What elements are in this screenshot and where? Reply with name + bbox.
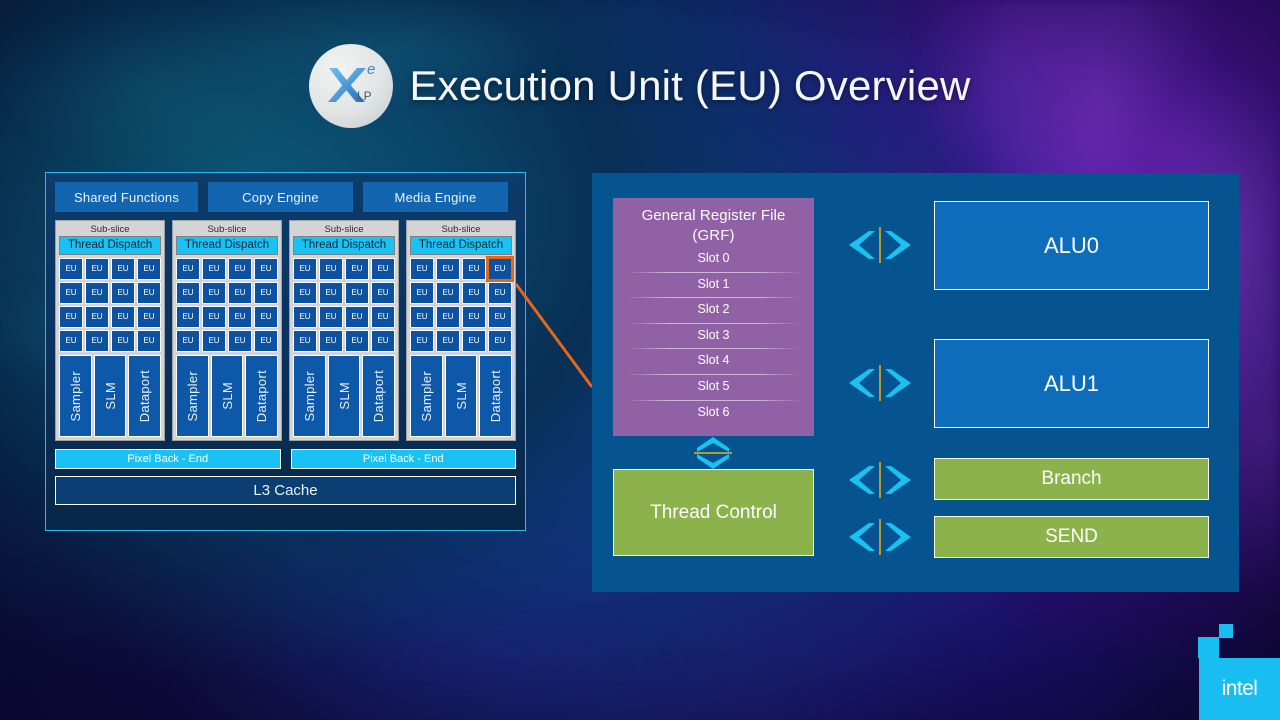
eu-cell[interactable]: EU xyxy=(462,306,486,328)
slm-block[interactable]: SLM xyxy=(328,355,361,437)
subslice-functions-2: Sampler SLM Dataport xyxy=(293,355,395,437)
eu-cell[interactable]: EU xyxy=(137,258,161,280)
thread-control-block[interactable]: Thread Control xyxy=(613,469,814,556)
eu-cell[interactable]: EU xyxy=(345,330,369,352)
eu-cell[interactable]: EU xyxy=(228,282,252,304)
eu-cell[interactable]: EU xyxy=(176,330,200,352)
eu-cell[interactable]: EU xyxy=(436,282,460,304)
eu-cell[interactable]: EU xyxy=(85,258,109,280)
eu-cell[interactable]: EU xyxy=(59,282,83,304)
send-label: SEND xyxy=(1045,526,1098,548)
thread-dispatch-1[interactable]: Thread Dispatch xyxy=(176,236,278,255)
subslice-0[interactable]: Sub-slice Thread Dispatch EU EU EU EU EU… xyxy=(55,220,165,441)
eu-cell[interactable]: EU xyxy=(254,258,278,280)
sampler-label: Sampler xyxy=(68,371,83,422)
dataport-block[interactable]: Dataport xyxy=(362,355,395,437)
eu-cell[interactable]: EU xyxy=(462,330,486,352)
subslice-row: Sub-slice Thread Dispatch EU EU EU EU EU… xyxy=(46,212,525,441)
eu-cell[interactable]: EU xyxy=(254,330,278,352)
eu-cell[interactable]: EU xyxy=(436,330,460,352)
eu-cell[interactable]: EU xyxy=(254,282,278,304)
grf-slot-0[interactable]: Slot 0 xyxy=(613,246,814,272)
eu-cell[interactable]: EU xyxy=(488,306,512,328)
eu-detail-diagram: General Register File (GRF) Slot 0 Slot … xyxy=(592,173,1239,592)
eu-cell[interactable]: EU xyxy=(85,330,109,352)
eu-cell[interactable]: EU xyxy=(137,282,161,304)
dataport-block[interactable]: Dataport xyxy=(479,355,512,437)
eu-cell[interactable]: EU xyxy=(371,306,395,328)
eu-cell[interactable]: EU xyxy=(176,306,200,328)
intel-wordmark: intel xyxy=(1199,658,1280,720)
eu-cell[interactable]: EU xyxy=(228,306,252,328)
eu-cell[interactable]: EU xyxy=(293,330,317,352)
grf-slot-5[interactable]: Slot 5 xyxy=(613,374,814,400)
grf-slot-4[interactable]: Slot 4 xyxy=(613,348,814,374)
eu-cell[interactable]: EU xyxy=(111,330,135,352)
eu-cell[interactable]: EU xyxy=(59,258,83,280)
eu-cell[interactable]: EU xyxy=(111,306,135,328)
eu-cell[interactable]: EU xyxy=(85,306,109,328)
eu-cell[interactable]: EU xyxy=(371,258,395,280)
eu-cell[interactable]: EU xyxy=(462,258,486,280)
sampler-label: Sampler xyxy=(419,371,434,422)
slm-block[interactable]: SLM xyxy=(211,355,244,437)
eu-cell[interactable]: EU xyxy=(59,330,83,352)
subslice-3[interactable]: Sub-slice Thread Dispatch EU EU EU EU EU… xyxy=(406,220,516,441)
eu-cell[interactable]: EU xyxy=(202,330,226,352)
grf-slot-6[interactable]: Slot 6 xyxy=(613,400,814,426)
dataport-label: Dataport xyxy=(371,370,386,422)
slm-label: SLM xyxy=(454,382,469,410)
pixel-back-end-0[interactable]: Pixel Back - End xyxy=(55,449,281,469)
pixel-back-end-1[interactable]: Pixel Back - End xyxy=(291,449,517,469)
dataport-block[interactable]: Dataport xyxy=(245,355,278,437)
grf-title-line2: (GRF) xyxy=(613,226,814,246)
slm-block[interactable]: SLM xyxy=(445,355,478,437)
intel-logo-small-square xyxy=(1219,624,1233,638)
eu-cell[interactable]: EU xyxy=(254,306,278,328)
slm-label: SLM xyxy=(103,382,118,410)
subslice-title: Sub-slice xyxy=(293,223,395,236)
eu-cell[interactable]: EU xyxy=(319,282,343,304)
eu-cell[interactable]: EU xyxy=(410,282,434,304)
subslice-functions-3: Sampler SLM Dataport xyxy=(410,355,512,437)
eu-cell[interactable]: EU xyxy=(345,282,369,304)
eu-cell[interactable]: EU xyxy=(488,282,512,304)
subslice-functions-0: Sampler SLM Dataport xyxy=(59,355,161,437)
subslice-title: Sub-slice xyxy=(59,223,161,236)
bidirectional-arrow-icon-branch xyxy=(847,460,913,500)
grf-slot-1[interactable]: Slot 1 xyxy=(613,272,814,298)
eu-cell[interactable]: EU xyxy=(137,330,161,352)
subslice-title: Sub-slice xyxy=(176,223,278,236)
xe-lp-logo-icon: e LP xyxy=(309,44,393,128)
eu-cell[interactable]: EU xyxy=(345,258,369,280)
dataport-label: Dataport xyxy=(488,370,503,422)
send-block[interactable]: SEND xyxy=(934,516,1209,558)
slm-label: SLM xyxy=(337,382,352,410)
alu0-label: ALU0 xyxy=(1044,233,1099,259)
engine-media-engine[interactable]: Media Engine xyxy=(363,182,508,212)
general-register-file-block[interactable]: General Register File (GRF) Slot 0 Slot … xyxy=(613,198,814,436)
slm-block[interactable]: SLM xyxy=(94,355,127,437)
eu-cell[interactable]: EU xyxy=(293,258,317,280)
thread-dispatch-0[interactable]: Thread Dispatch xyxy=(59,236,161,255)
l3-cache-block[interactable]: L3 Cache xyxy=(55,476,516,505)
branch-label: Branch xyxy=(1041,468,1101,490)
eu-cell[interactable]: EU xyxy=(228,330,252,352)
eu-cell[interactable]: EU xyxy=(345,306,369,328)
sampler-label: Sampler xyxy=(302,371,317,422)
eu-grid-0: EU EU EU EU EU EU EU EU EU EU EU EU EU E… xyxy=(59,258,161,352)
eu-cell[interactable]: EU xyxy=(410,306,434,328)
engine-copy-engine[interactable]: Copy Engine xyxy=(208,182,353,212)
sampler-block[interactable]: Sampler xyxy=(410,355,443,437)
bidirectional-vertical-arrow-icon xyxy=(688,435,738,471)
gpu-slice-diagram: Shared Functions Copy Engine Media Engin… xyxy=(45,172,526,531)
grf-title-line1: General Register File xyxy=(613,206,814,226)
eu-cell[interactable]: EU xyxy=(228,258,252,280)
eu-cell[interactable]: EU xyxy=(319,306,343,328)
eu-cell[interactable]: EU xyxy=(202,282,226,304)
grf-slot-2[interactable]: Slot 2 xyxy=(613,297,814,323)
branch-block[interactable]: Branch xyxy=(934,458,1209,500)
eu-cell[interactable]: EU xyxy=(293,306,317,328)
eu-cell[interactable]: EU xyxy=(488,330,512,352)
dataport-block[interactable]: Dataport xyxy=(128,355,161,437)
eu-cell[interactable]: EU xyxy=(371,282,395,304)
eu-cell[interactable]: EU xyxy=(59,306,83,328)
eu-cell[interactable]: EU xyxy=(137,306,161,328)
eu-cell[interactable]: EU xyxy=(111,282,135,304)
l3-cache-row: L3 Cache xyxy=(46,469,525,514)
eu-cell[interactable]: EU xyxy=(436,258,460,280)
dataport-label: Dataport xyxy=(137,370,152,422)
eu-cell[interactable]: EU xyxy=(410,258,434,280)
engine-row: Shared Functions Copy Engine Media Engin… xyxy=(46,173,525,212)
pixel-back-end-row: Pixel Back - End Pixel Back - End xyxy=(46,441,525,469)
subslice-title: Sub-slice xyxy=(410,223,512,236)
grf-slot-3[interactable]: Slot 3 xyxy=(613,323,814,349)
eu-cell[interactable]: EU xyxy=(202,306,226,328)
eu-cell[interactable]: EU xyxy=(176,282,200,304)
eu-cell[interactable]: EU xyxy=(462,282,486,304)
bidirectional-arrow-icon-alu0 xyxy=(847,225,913,265)
dataport-label: Dataport xyxy=(254,370,269,422)
svg-text:e: e xyxy=(367,61,375,78)
eu-cell-highlighted[interactable]: EU xyxy=(488,258,512,280)
eu-grid-3: EU EU EU EU EU EU EU EU EU EU EU EU EU E… xyxy=(410,258,512,352)
alu0-block[interactable]: ALU0 xyxy=(934,201,1209,290)
eu-cell[interactable]: EU xyxy=(111,258,135,280)
thread-control-label: Thread Control xyxy=(650,502,777,524)
sampler-block[interactable]: Sampler xyxy=(176,355,209,437)
subslice-functions-1: Sampler SLM Dataport xyxy=(176,355,278,437)
slm-label: SLM xyxy=(220,382,235,410)
alu1-label: ALU1 xyxy=(1044,371,1099,397)
slide-header: e LP Execution Unit (EU) Overview xyxy=(0,38,1280,134)
svg-text:LP: LP xyxy=(357,89,372,103)
sampler-block[interactable]: Sampler xyxy=(59,355,92,437)
subslice-2[interactable]: Sub-slice Thread Dispatch EU EU EU EU EU… xyxy=(289,220,399,441)
eu-cell[interactable]: EU xyxy=(293,282,317,304)
page-title: Execution Unit (EU) Overview xyxy=(409,62,970,110)
alu1-block[interactable]: ALU1 xyxy=(934,339,1209,428)
eu-cell[interactable]: EU xyxy=(371,330,395,352)
eu-cell[interactable]: EU xyxy=(202,258,226,280)
eu-cell[interactable]: EU xyxy=(319,258,343,280)
eu-cell[interactable]: EU xyxy=(176,258,200,280)
sampler-block[interactable]: Sampler xyxy=(293,355,326,437)
thread-dispatch-3[interactable]: Thread Dispatch xyxy=(410,236,512,255)
engine-shared-functions[interactable]: Shared Functions xyxy=(55,182,198,212)
eu-cell[interactable]: EU xyxy=(85,282,109,304)
sampler-label: Sampler xyxy=(185,371,200,422)
intel-logo-mid-square xyxy=(1198,637,1219,658)
grf-title: General Register File (GRF) xyxy=(613,198,814,246)
bidirectional-arrow-icon-alu1 xyxy=(847,363,913,403)
eu-cell[interactable]: EU xyxy=(319,330,343,352)
eu-grid-2: EU EU EU EU EU EU EU EU EU EU EU EU EU E… xyxy=(293,258,395,352)
eu-grid-1: EU EU EU EU EU EU EU EU EU EU EU EU EU E… xyxy=(176,258,278,352)
eu-cell[interactable]: EU xyxy=(436,306,460,328)
subslice-1[interactable]: Sub-slice Thread Dispatch EU EU EU EU EU… xyxy=(172,220,282,441)
eu-cell[interactable]: EU xyxy=(410,330,434,352)
bidirectional-arrow-icon-send xyxy=(847,517,913,557)
thread-dispatch-2[interactable]: Thread Dispatch xyxy=(293,236,395,255)
